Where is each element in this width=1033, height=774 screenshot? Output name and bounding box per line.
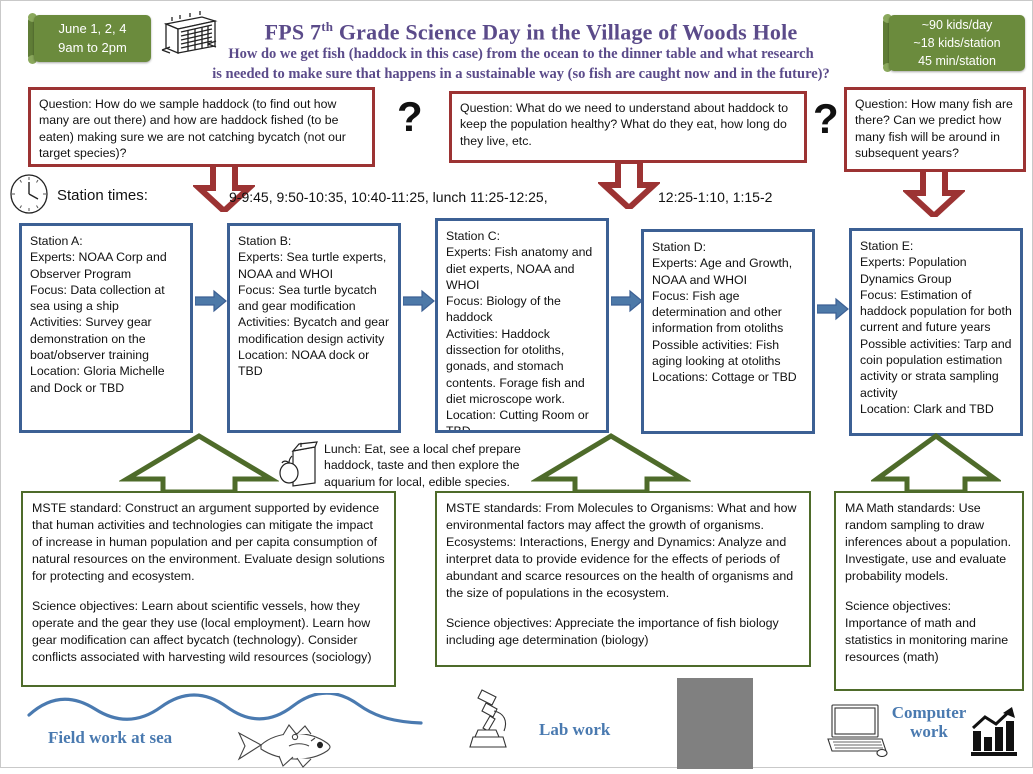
station-line: Location: Cutting Room or TBD <box>446 407 598 433</box>
standards-paragraph: MA Math standards: Use random sampling t… <box>845 500 1013 585</box>
standards-paragraph: Science objectives: Importance of math a… <box>845 598 1013 666</box>
station-line: Focus: Biology of the haddock <box>446 293 598 326</box>
lab-work-caption: Lab work <box>539 721 610 740</box>
station-line: Activities: Haddock dissection for otoli… <box>446 326 598 407</box>
standards-paragraph: MSTE standard: Construct an argument sup… <box>32 500 385 585</box>
computer-work-caption: Computer work <box>887 704 971 741</box>
flow-arrow-a-to-b <box>195 289 227 313</box>
station-line: Activities: Survey gear demonstration on… <box>30 314 182 363</box>
station-line: Experts: Age and Growth, NOAA and WHOI <box>652 255 804 288</box>
station-line: Location: Gloria Michelle and Dock or TB… <box>30 363 182 396</box>
date-badge-line-1: June 1, 2, 4 <box>59 20 127 39</box>
question-box-sampling: Question: How do we sample haddock (to f… <box>28 87 375 167</box>
standards-paragraph: Science objectives: Learn about scientif… <box>32 598 385 666</box>
station-line: Activities: Bycatch and gear modificatio… <box>238 314 390 347</box>
station-line: Experts: Sea turtle experts, NOAA and WH… <box>238 249 390 282</box>
station-line: Experts: Population Dynamics Group <box>860 254 1012 287</box>
station-title: Station A: <box>30 233 182 249</box>
capacity-badge-line-1: ~90 kids/day <box>922 16 993 34</box>
station-line: Focus: Sea turtle bycatch and gear modif… <box>238 282 390 315</box>
station-times-label: Station times: <box>57 187 148 204</box>
lunch-text: Lunch: Eat, see a local chef prepare had… <box>324 441 567 490</box>
computer-work-caption-line-1: Computer <box>887 704 971 723</box>
green-up-arrow-field <box>119 433 279 500</box>
red-down-arrow-3 <box>903 169 965 217</box>
page-title-ordinal: th <box>321 19 333 34</box>
station-box-b: Station B: Experts: Sea turtle experts, … <box>227 223 401 433</box>
question-text: Question: What do we need to understand … <box>460 101 788 148</box>
standards-paragraph: MSTE standards: From Molecules to Organi… <box>446 500 800 602</box>
page-subtitle-line-1: How do we get fish (haddock in this case… <box>156 45 886 65</box>
lunch-bag-icon <box>277 441 321 487</box>
capacity-badge-line-2: ~18 kids/station <box>913 34 1000 52</box>
field-work-caption: Field work at sea <box>48 729 172 748</box>
page-subtitle: How do we get fish (haddock in this case… <box>156 45 886 84</box>
station-line: Location: Clark and TBD <box>860 401 1012 417</box>
question-mark-2: ? <box>813 95 839 143</box>
wave-icon <box>21 693 431 733</box>
laptop-icon <box>824 703 890 757</box>
capacity-badge-line-3: 45 min/station <box>918 52 996 70</box>
date-badge: June 1, 2, 4 9am to 2pm <box>28 11 151 66</box>
flow-arrow-b-to-c <box>403 289 435 313</box>
station-line: Focus: Data collection at sea using a sh… <box>30 282 182 315</box>
question-text: Question: How do we sample haddock (to f… <box>39 97 346 160</box>
station-title: Station E: <box>860 238 1012 254</box>
flow-arrow-c-to-d <box>611 289 643 313</box>
question-box-abundance: Question: How many fish are there? Can w… <box>844 87 1026 172</box>
red-down-arrow-2 <box>598 161 660 209</box>
station-line: Focus: Fish age determination and other … <box>652 288 804 337</box>
station-box-e: Station E: Experts: Population Dynamics … <box>849 228 1023 436</box>
computer-work-caption-line-2: work <box>887 723 971 742</box>
page-subtitle-line-2: is needed to make sure that happens in a… <box>156 65 886 85</box>
station-line: Location: NOAA dock or TBD <box>238 347 390 380</box>
fish-icon <box>231 723 341 769</box>
page-title: FPS 7th Grade Science Day in the Village… <box>231 19 831 45</box>
standards-paragraph: Science objectives: Appreciate the impor… <box>446 615 800 649</box>
station-box-c: Station C: Experts: Fish anatomy and die… <box>435 218 609 433</box>
flow-arrow-d-to-e <box>817 297 849 321</box>
question-text: Question: How many fish are there? Can w… <box>855 97 1013 160</box>
bar-chart-icon <box>969 704 1019 759</box>
station-times-right: 12:25-1:10, 1:15-2 <box>658 189 772 205</box>
station-title: Station D: <box>652 239 804 255</box>
station-box-a: Station A: Experts: NOAA Corp and Observ… <box>19 223 193 433</box>
poster-canvas: June 1, 2, 4 9am to 2pm FPS 7th Grade Sc… <box>0 0 1033 768</box>
clock-icon <box>9 173 49 215</box>
station-line: Locations: Cottage or TBD <box>652 369 804 385</box>
station-line: Focus: Estimation of haddock population … <box>860 287 1012 336</box>
station-line: Experts: Fish anatomy and diet experts, … <box>446 244 598 293</box>
page-title-pre: FPS 7 <box>265 19 322 44</box>
image-placeholder <box>677 678 753 769</box>
page-title-post: Grade Science Day in the Village of Wood… <box>333 19 797 44</box>
standards-box-field: MSTE standard: Construct an argument sup… <box>21 491 396 687</box>
station-line: Possible activities: Fish aging looking … <box>652 337 804 370</box>
capacity-badge: ~90 kids/day ~18 kids/station 45 min/sta… <box>883 12 1025 74</box>
question-mark-1: ? <box>397 93 423 141</box>
station-title: Station C: <box>446 228 598 244</box>
station-line: Experts: NOAA Corp and Observer Program <box>30 249 182 282</box>
date-badge-line-2: 9am to 2pm <box>58 39 127 58</box>
station-times-left: 9-9:45, 9:50-10:35, 10:40-11:25, lunch 1… <box>229 189 548 205</box>
question-box-population-health: Question: What do we need to understand … <box>449 91 807 163</box>
standards-box-math: MA Math standards: Use random sampling t… <box>834 491 1024 691</box>
station-title: Station B: <box>238 233 390 249</box>
green-up-arrow-math <box>871 433 1001 500</box>
microscope-icon <box>466 687 516 753</box>
standards-box-lab: MSTE standards: From Molecules to Organi… <box>435 491 811 667</box>
station-box-d: Station D: Experts: Age and Growth, NOAA… <box>641 229 815 434</box>
station-line: Possible activities: Tarp and coin popul… <box>860 336 1012 401</box>
